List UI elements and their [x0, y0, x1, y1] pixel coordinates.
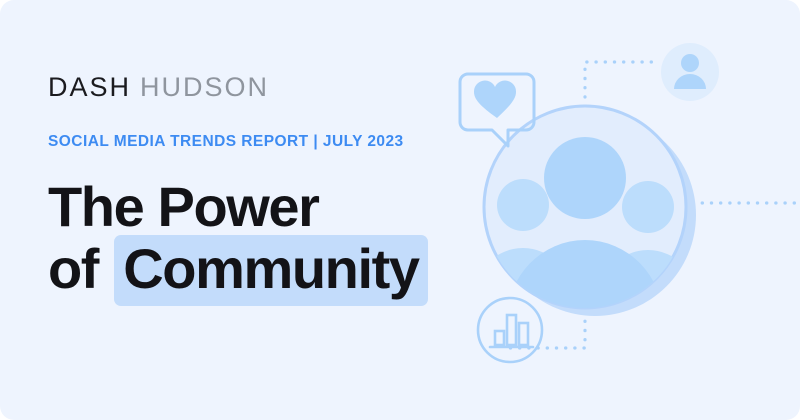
report-cover-card: DASHHUDSON SOCIAL MEDIA TRENDS REPORT | … — [0, 0, 800, 420]
brand-logo-dash: DASH — [48, 72, 131, 102]
bar-chart-icon — [478, 298, 542, 362]
connector-line-avatar — [585, 62, 660, 97]
page-title: The Power of Community — [48, 176, 468, 301]
chart-bar-2 — [507, 315, 516, 345]
avatar-person-icon — [661, 43, 719, 101]
brand-logo: DASHHUDSON — [48, 74, 468, 101]
heart-shape — [474, 81, 516, 118]
avatar-head — [681, 54, 699, 72]
report-eyebrow: SOCIAL MEDIA TRENDS REPORT | JULY 2023 — [48, 134, 468, 150]
person-left-head — [497, 179, 549, 231]
chart-bar-3 — [519, 323, 528, 345]
chart-icon-ring — [478, 298, 542, 362]
headline-line-2: of Community — [48, 238, 468, 301]
person-right-head — [622, 181, 674, 233]
person-center-head — [544, 137, 626, 219]
headline-line-1: The Power — [48, 176, 468, 239]
headline-highlight-community: Community — [114, 235, 427, 306]
headline-prefix: of — [48, 237, 112, 300]
text-column: DASHHUDSON SOCIAL MEDIA TRENDS REPORT | … — [48, 74, 468, 301]
chart-bar-1 — [495, 331, 504, 345]
community-illustration — [440, 0, 800, 420]
illustration-svg — [440, 0, 800, 420]
brand-logo-hudson: HUDSON — [140, 72, 269, 102]
